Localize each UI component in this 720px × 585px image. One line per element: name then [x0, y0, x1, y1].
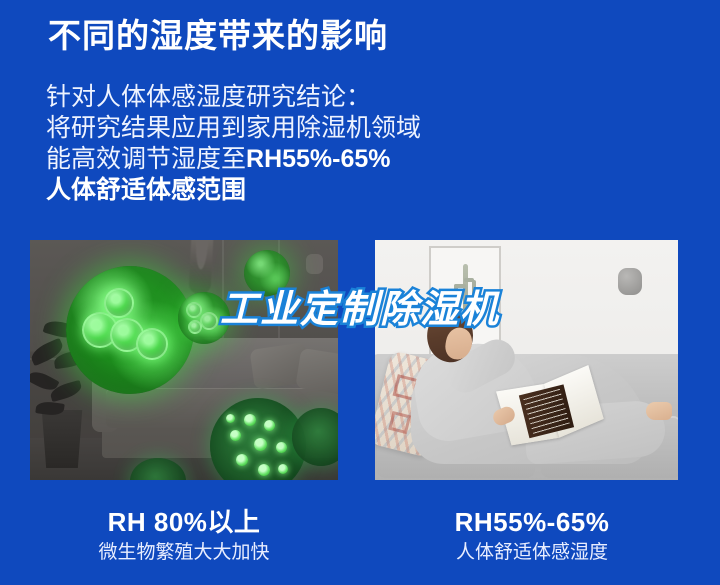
virus-spike — [226, 414, 235, 423]
body-copy: 针对人体体感湿度研究结论： 将研究结果应用到家用除湿机领域 能高效调节湿度至RH… — [46, 82, 421, 206]
caption-left: RH 80%以上 微生物繁殖大大加快 — [24, 506, 344, 566]
plant-pot — [40, 410, 84, 468]
page-title: 不同的湿度带来的影响 — [48, 17, 388, 55]
poster-canvas: 不同的湿度带来的影响 针对人体体感湿度研究结论： 将研究结果应用到家用除湿机领域… — [0, 0, 720, 585]
caption-right: RH55%-65% 人体舒适体感湿度 — [372, 506, 692, 566]
virus-spike — [258, 464, 270, 476]
virus-spike — [244, 414, 256, 426]
body-copy-line-3: 能高效调节湿度至RH55%-65% — [46, 144, 421, 175]
caption-left-headline: RH 80%以上 — [24, 506, 344, 538]
body-copy-line-3-prefix: 能高效调节湿度至 — [46, 145, 246, 173]
virus-spike — [230, 430, 241, 441]
caption-right-headline: RH55%-65% — [372, 506, 692, 538]
person-foot — [646, 402, 672, 420]
virus-spike — [236, 454, 248, 466]
light-room-background — [375, 240, 678, 480]
dark-room-background — [30, 240, 338, 480]
body-copy-line-2: 将研究结果应用到家用除湿机领域 — [46, 113, 421, 144]
virus-spike — [278, 464, 288, 474]
product-title-overlay: 工业定制除湿机 — [0, 278, 720, 333]
wall-knob-icon — [306, 254, 323, 274]
virus-spike — [276, 442, 287, 453]
humidity-range-value: RH55%-65% — [246, 145, 391, 173]
caption-right-subline: 人体舒适体感湿度 — [372, 540, 692, 566]
photo-left-humid-room — [30, 240, 338, 480]
caption-left-subline: 微生物繁殖大大加快 — [24, 540, 344, 566]
virus-spike — [264, 420, 275, 431]
body-copy-line-4: 人体舒适体感范围 — [46, 175, 421, 206]
photo-right-comfort-room — [375, 240, 678, 480]
virus-spike — [254, 438, 267, 451]
body-copy-line-1: 针对人体体感湿度研究结论： — [46, 82, 421, 113]
